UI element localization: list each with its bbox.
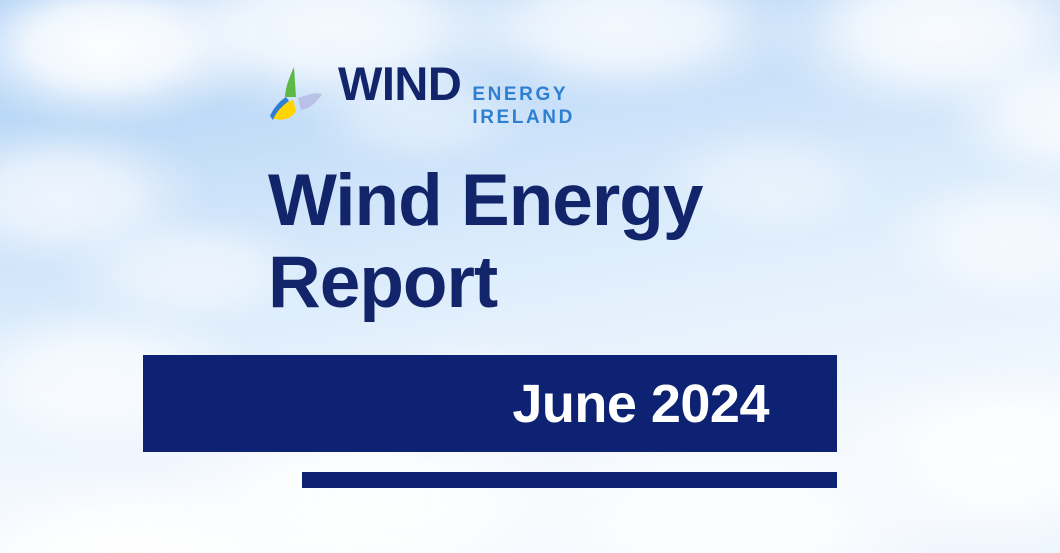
brand-logo: WIND ENERGY IRELAND: [268, 60, 575, 130]
report-cover: WIND ENERGY IRELAND Wind Energy Report J…: [0, 0, 1060, 553]
brand-name-wind: WIND: [338, 60, 461, 107]
report-date: June 2024: [512, 373, 837, 435]
page-title: Wind Energy Report: [268, 160, 908, 324]
accent-rule: [302, 472, 837, 488]
date-band: June 2024: [143, 355, 837, 452]
cloud-shape: [0, 0, 270, 130]
cloud-shape: [840, 360, 1060, 553]
brand-name-energy: ENERGY: [472, 85, 575, 104]
cloud-shape: [760, 0, 1060, 120]
brand-name-ireland: IRELAND: [472, 108, 575, 127]
cloud-shape: [940, 40, 1060, 190]
cloud-shape: [0, 470, 300, 553]
cloud-shape: [0, 120, 210, 270]
wind-turbine-logo-icon: [268, 64, 324, 126]
brand-wordmark: WIND ENERGY IRELAND: [338, 60, 575, 130]
